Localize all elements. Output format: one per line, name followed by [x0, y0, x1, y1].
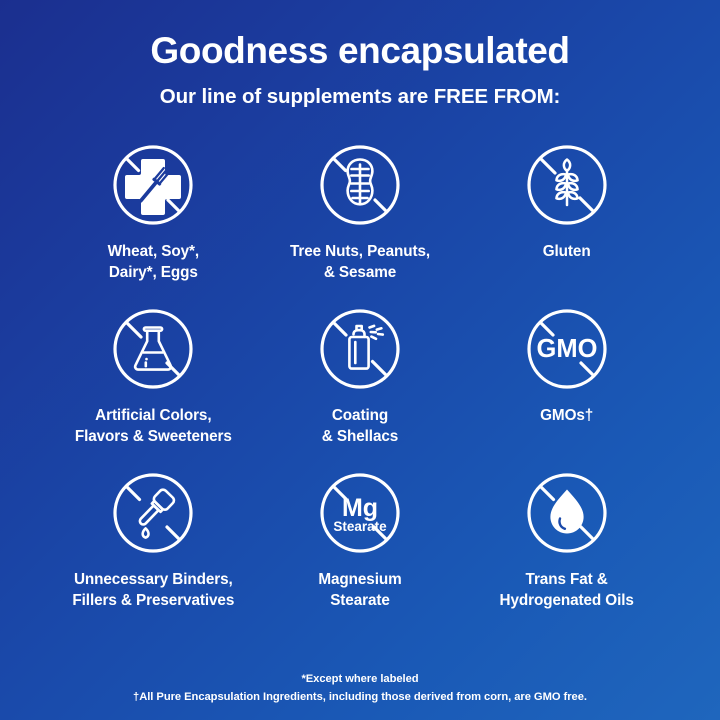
- grid-item-gluten: Gluten: [463, 137, 670, 301]
- page-subtitle: Our line of supplements are FREE FROM:: [0, 85, 720, 109]
- no-oil-droplet-icon: [519, 465, 615, 561]
- no-magnesium-stearate-icon: Mg Stearate: [312, 465, 408, 561]
- free-from-poster: Goodness encapsulated Our line of supple…: [0, 0, 720, 720]
- grid-item-label: Trans Fat & Hydrogenated Oils: [500, 570, 634, 610]
- poster-header: Goodness encapsulated Our line of supple…: [0, 0, 720, 109]
- page-title: Goodness encapsulated: [0, 30, 720, 71]
- grid-item-label: GMOs†: [540, 406, 593, 426]
- grid-item-label: Wheat, Soy*, Dairy*, Eggs: [108, 242, 199, 282]
- grid-item-coating: Coating & Shellacs: [257, 301, 464, 465]
- mg-icon-text: Mg: [342, 494, 378, 522]
- grid-item-label: Magnesium Stearate: [318, 570, 401, 610]
- grid-item-allergens: Wheat, Soy*, Dairy*, Eggs: [50, 137, 257, 301]
- grid-item-label: Artificial Colors, Flavors & Sweeteners: [75, 406, 232, 446]
- footnote-dagger: †All Pure Encapsulation Ingredients, inc…: [0, 688, 720, 706]
- no-flask-icon: [105, 301, 201, 397]
- footnote-asterisk: *Except where labeled: [0, 670, 720, 688]
- grid-item-magnesium-stearate: Mg Stearate Magnesium Stearate: [257, 465, 464, 629]
- no-gmo-icon: GMO: [519, 301, 615, 397]
- stearate-icon-text: Stearate: [333, 519, 387, 534]
- grid-item-binders: Unnecessary Binders, Fillers & Preservat…: [50, 465, 257, 629]
- no-wheat-stalk-icon: [519, 137, 615, 233]
- footnotes: *Except where labeled †All Pure Encapsul…: [0, 670, 720, 706]
- no-dropper-icon: [105, 465, 201, 561]
- no-cross-fork-icon: [105, 137, 201, 233]
- free-from-grid: Wheat, Soy*, Dairy*, Eggs: [50, 137, 670, 629]
- no-peanut-icon: [312, 137, 408, 233]
- no-spray-can-icon: [312, 301, 408, 397]
- grid-item-label: Tree Nuts, Peanuts, & Sesame: [290, 242, 430, 282]
- grid-item-gmos: GMO GMOs†: [463, 301, 670, 465]
- grid-item-trans-fat: Trans Fat & Hydrogenated Oils: [463, 465, 670, 629]
- grid-item-artificial-colors: Artificial Colors, Flavors & Sweeteners: [50, 301, 257, 465]
- grid-item-tree-nuts: Tree Nuts, Peanuts, & Sesame: [257, 137, 464, 301]
- grid-item-label: Coating & Shellacs: [322, 406, 398, 446]
- grid-item-label: Gluten: [543, 242, 591, 262]
- grid-item-label: Unnecessary Binders, Fillers & Preservat…: [72, 570, 234, 610]
- gmo-icon-text: GMO: [536, 335, 597, 363]
